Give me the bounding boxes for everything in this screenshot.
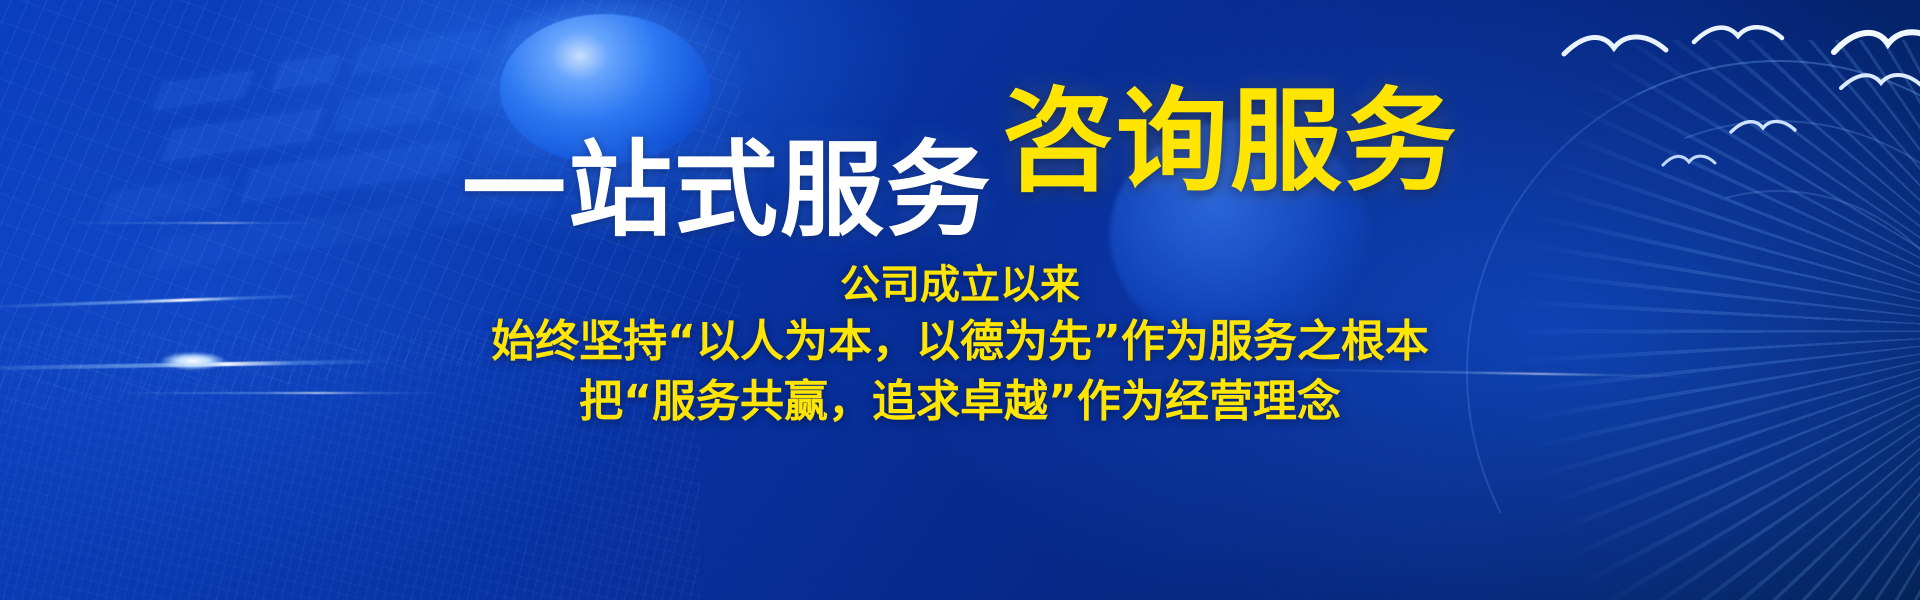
bird-icon [1690, 18, 1786, 56]
headline-group: 一站式服务 咨询服务 [0, 92, 1920, 204]
bird-icon [1830, 22, 1920, 68]
body-line-1: 公司成立以来 [0, 258, 1920, 312]
service-banner: 一站式服务 咨询服务 公司成立以来 始终坚持“以人为本，以德为先”作为服务之根本… [0, 0, 1920, 600]
headline-secondary: 咨询服务 [1002, 86, 1458, 198]
headline-primary: 一站式服务 [462, 138, 992, 242]
bird-icon [1560, 28, 1670, 68]
body-line-3: 把“服务共赢，追求卓越”作为经营理念 [0, 372, 1920, 432]
body-line-2: 始终坚持“以人为本，以德为先”作为服务之根本 [0, 312, 1920, 372]
body-copy-group: 公司成立以来 始终坚持“以人为本，以德为先”作为服务之根本 把“服务共赢，追求卓… [0, 258, 1920, 432]
light-streak-shape [60, 222, 320, 224]
